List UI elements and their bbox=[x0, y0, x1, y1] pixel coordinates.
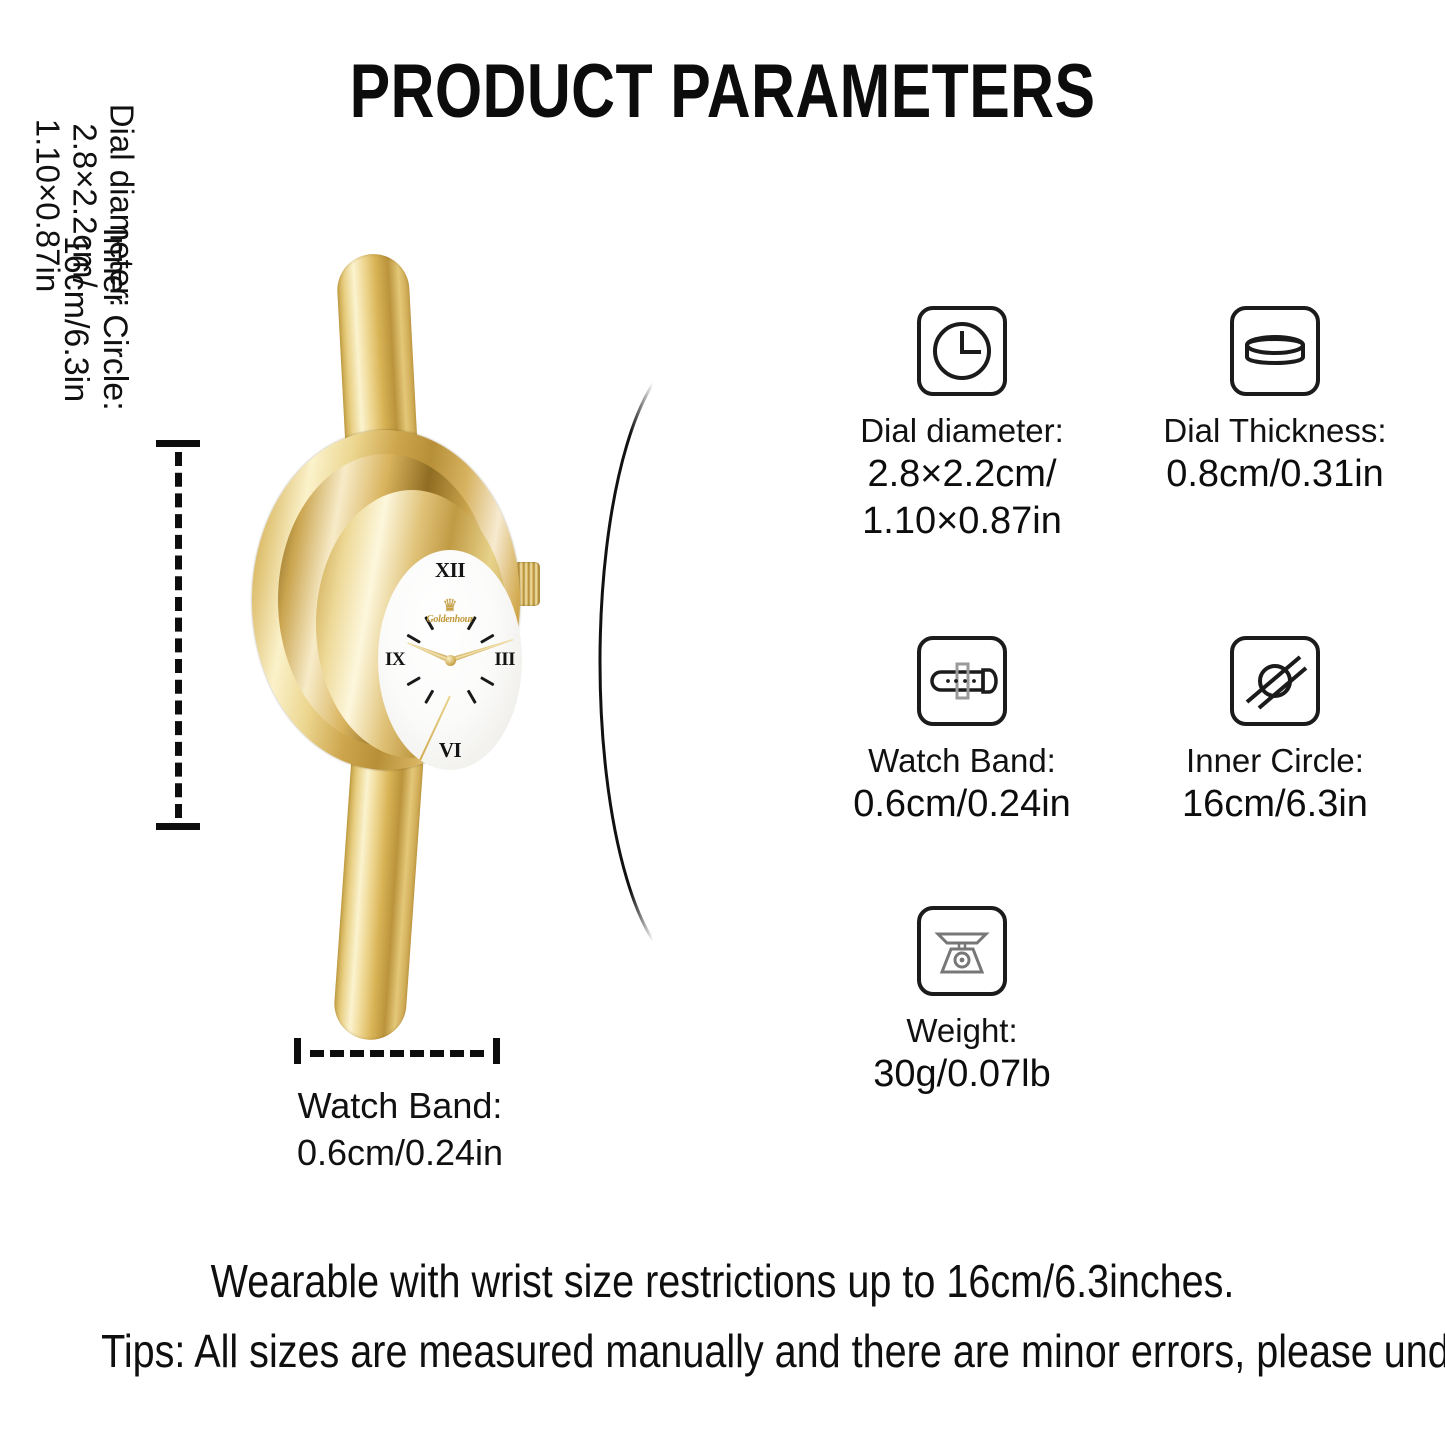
spec-watch-band: Watch Band: 0.6cm/0.24in bbox=[797, 636, 1127, 828]
inner-circle-ellipse-icon bbox=[596, 352, 786, 972]
scale-icon-glyph bbox=[921, 910, 1003, 992]
page-title: PRODUCT PARAMETERS bbox=[145, 48, 1301, 135]
spec-label: Watch Band: bbox=[797, 740, 1127, 781]
spec-label: Inner Circle: bbox=[1110, 740, 1440, 781]
footer-tips-note: Tips: All sizes are measured manually an… bbox=[101, 1320, 1344, 1382]
watch-case-bezel: XII III VI IX ♛ G bbox=[316, 490, 508, 758]
strap-buckle-icon-glyph bbox=[921, 640, 1003, 722]
dial-numeral-three: III bbox=[494, 649, 515, 671]
dial-numeral-twelve: XII bbox=[435, 558, 465, 583]
hands-center-pin bbox=[445, 655, 456, 666]
dial-brand-logo: ♛ Goldenhour bbox=[410, 598, 490, 625]
spec-label: Dial diameter: bbox=[797, 410, 1127, 451]
watch-case-groove: XII III VI IX ♛ G bbox=[278, 454, 494, 746]
spec-value: 30g/0.07lb bbox=[797, 1051, 1127, 1098]
clock-icon bbox=[917, 306, 1007, 396]
dial-diameter-dimension-line bbox=[150, 440, 210, 830]
inner-circle-dimension-label: Inner Circle: 16cm/6.3in bbox=[56, 94, 134, 544]
bangle-circle-icon-glyph bbox=[1234, 640, 1316, 722]
dial-numeral-six: VI bbox=[439, 738, 461, 763]
disc-icon bbox=[1230, 306, 1320, 396]
spec-label: Weight: bbox=[797, 1010, 1127, 1051]
watch-band-dimension-line bbox=[294, 1038, 500, 1064]
disc-icon-glyph bbox=[1234, 310, 1316, 392]
product-parameters-infographic: PRODUCT PARAMETERS XII III VI IX bbox=[0, 0, 1445, 1445]
dimension-cap-left bbox=[294, 1038, 301, 1064]
dimension-cap-top bbox=[156, 440, 200, 447]
dimension-cap-right bbox=[493, 1038, 500, 1064]
spec-value: 0.8cm/0.31in bbox=[1110, 451, 1440, 498]
dimension-dashed-line bbox=[310, 1050, 484, 1057]
spec-weight: Weight: 30g/0.07lb bbox=[797, 906, 1127, 1098]
watch-case-outer: XII III VI IX ♛ G bbox=[252, 430, 520, 770]
clock-icon-glyph bbox=[921, 310, 1003, 392]
bangle-band-lower bbox=[332, 748, 424, 1042]
bee-crown-emblem-icon: ♛ bbox=[410, 598, 490, 613]
footer-notes: Wearable with wrist size restrictions up… bbox=[0, 1250, 1445, 1382]
dimension-cap-bottom bbox=[156, 823, 200, 830]
brand-name: Goldenhour bbox=[410, 614, 490, 625]
spec-dial-diameter: Dial diameter: 2.8×2.2cm/ 1.10×0.87in bbox=[797, 306, 1127, 545]
spec-dial-thickness: Dial Thickness: 0.8cm/0.31in bbox=[1110, 306, 1440, 498]
scale-icon bbox=[917, 906, 1007, 996]
bangle-circle-icon bbox=[1230, 636, 1320, 726]
watch-dial: XII III VI IX ♛ G bbox=[378, 550, 522, 770]
dial-numeral-nine: IX bbox=[385, 649, 405, 671]
watch-band-dimension-label: Watch Band: 0.6cm/0.24in bbox=[210, 1082, 590, 1176]
watch-product-illustration: XII III VI IX ♛ G bbox=[238, 240, 578, 1040]
spec-value: 2.8×2.2cm/ 1.10×0.87in bbox=[797, 451, 1127, 545]
spec-value: 0.6cm/0.24in bbox=[797, 781, 1127, 828]
strap-buckle-icon bbox=[917, 636, 1007, 726]
spec-inner-circle: Inner Circle: 16cm/6.3in bbox=[1110, 636, 1440, 828]
spec-value: 16cm/6.3in bbox=[1110, 781, 1440, 828]
footer-wearable-note: Wearable with wrist size restrictions up… bbox=[101, 1250, 1344, 1312]
spec-label: Dial Thickness: bbox=[1110, 410, 1440, 451]
dimension-dashed-line bbox=[175, 452, 182, 818]
inner-circle-outline-group bbox=[596, 352, 786, 972]
